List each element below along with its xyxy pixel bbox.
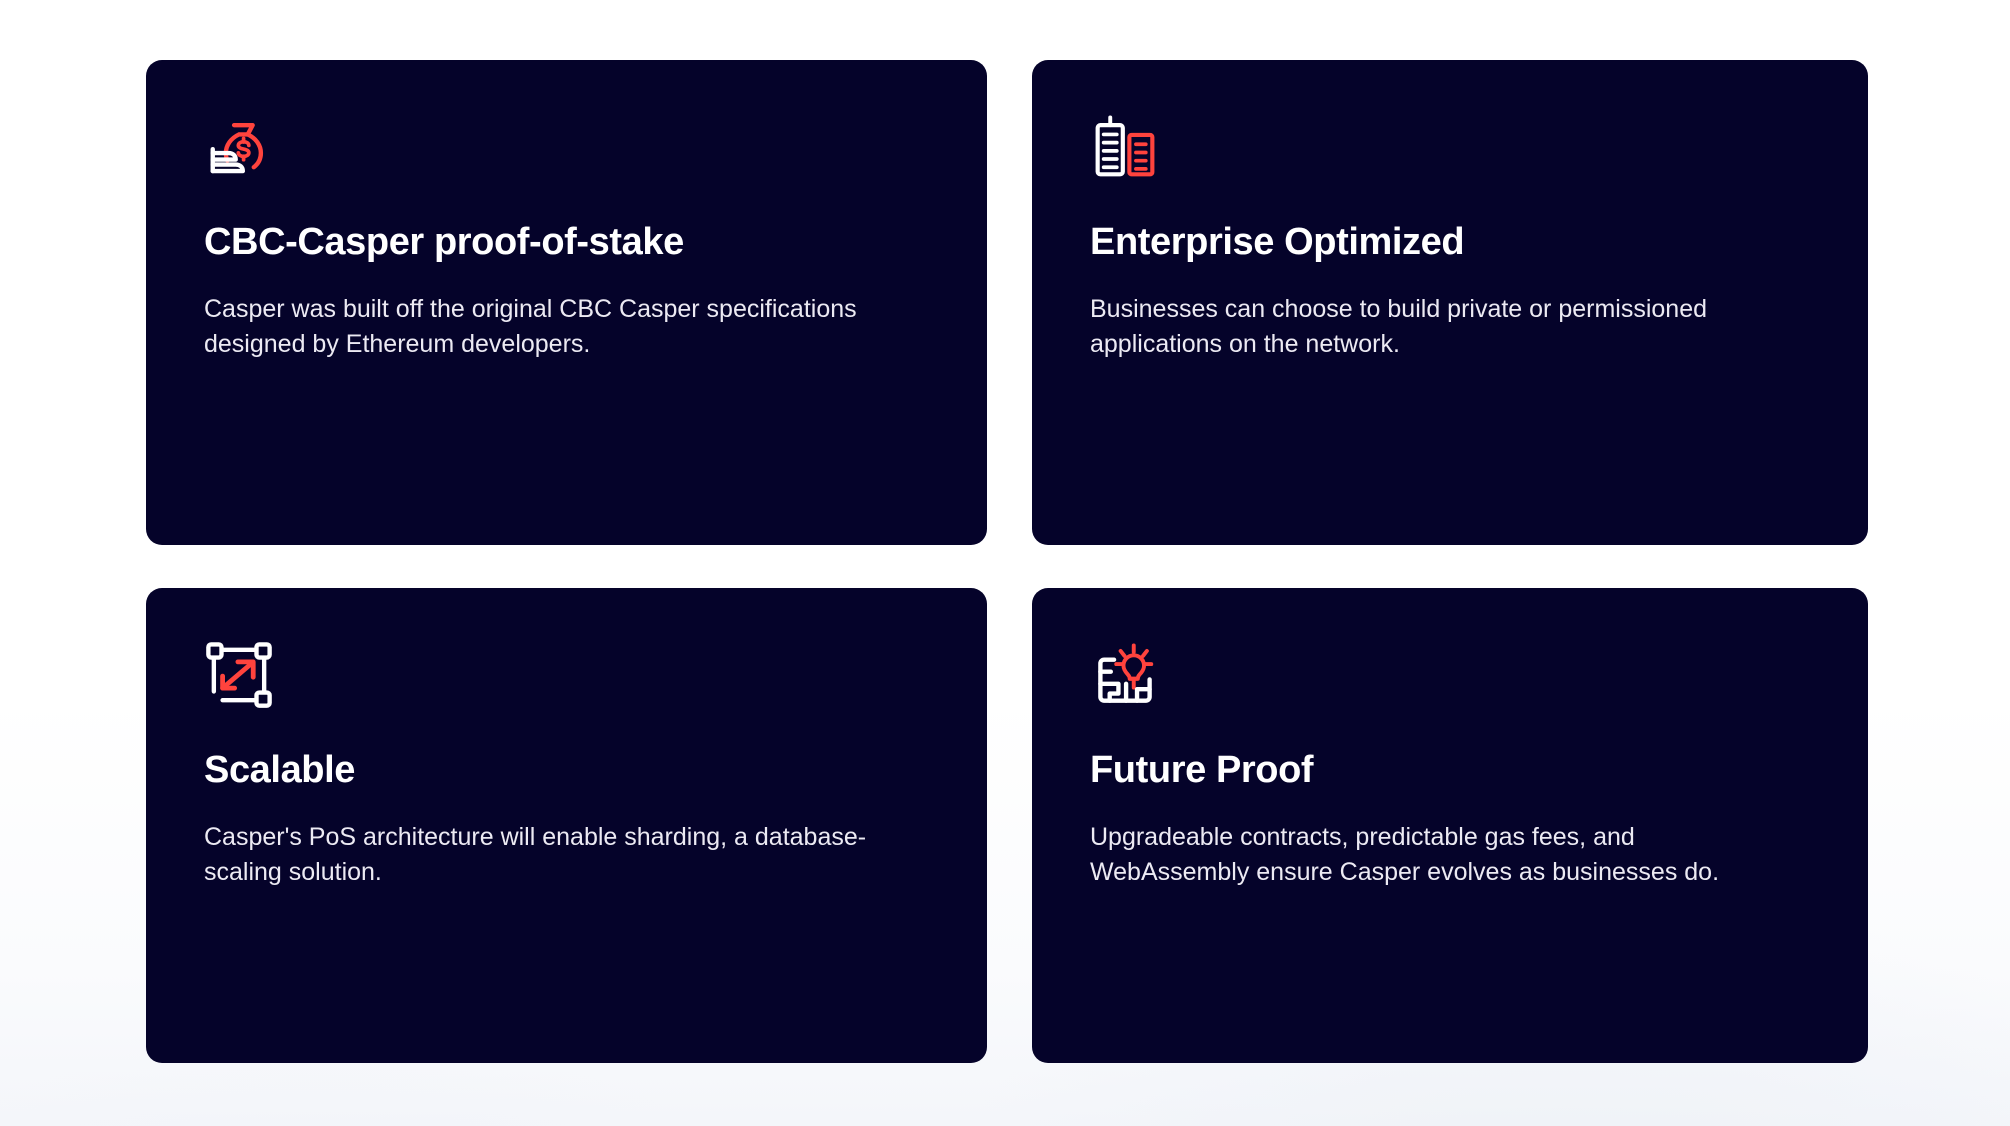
feature-description: Casper was built off the original CBC Ca… [204, 292, 894, 363]
feature-title: CBC-Casper proof-of-stake [204, 220, 929, 265]
feature-card-future-proof[interactable]: Future Proof Upgradeable contracts, pred… [1032, 588, 1868, 1063]
feature-card-enterprise-optimized[interactable]: Enterprise Optimized Businesses can choo… [1032, 60, 1868, 545]
feature-description: Casper's PoS architecture will enable sh… [204, 820, 894, 891]
scale-arrow-icon [204, 640, 274, 710]
feature-title: Enterprise Optimized [1090, 220, 1810, 265]
feature-title: Scalable [204, 748, 929, 793]
feature-card-grid: CBC-Casper proof-of-stake Casper was bui… [146, 60, 1868, 1063]
feature-card-scalable[interactable]: Scalable Casper's PoS architecture will … [146, 588, 987, 1063]
money-bag-stake-icon [204, 112, 274, 182]
lightbulb-circuit-icon [1090, 640, 1160, 710]
feature-description: Businesses can choose to build private o… [1090, 292, 1770, 363]
feature-description: Upgradeable contracts, predictable gas f… [1090, 820, 1770, 891]
office-buildings-icon [1090, 112, 1160, 182]
feature-title: Future Proof [1090, 748, 1810, 793]
feature-card-cbc-casper-proof-of-stake[interactable]: CBC-Casper proof-of-stake Casper was bui… [146, 60, 987, 545]
